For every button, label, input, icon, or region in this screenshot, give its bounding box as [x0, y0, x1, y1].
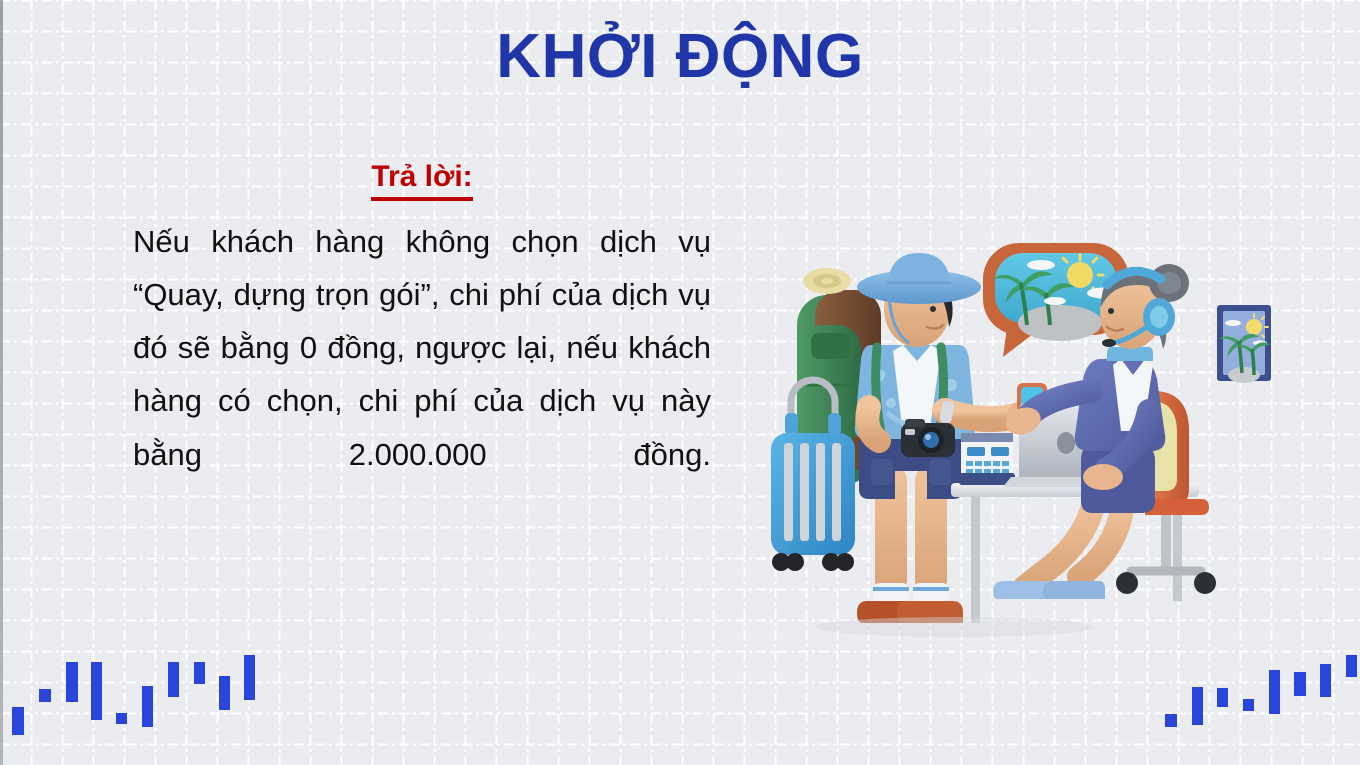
- decoration-bar: [91, 662, 102, 720]
- decoration-bar: [244, 655, 255, 700]
- left-edge-border: [0, 0, 3, 765]
- decoration-bar: [142, 686, 153, 727]
- decoration-bar: [66, 662, 77, 702]
- decoration-bar: [1294, 672, 1305, 696]
- answer-block: Trả lời: Nếu khách hàng không chọn dịch …: [133, 160, 711, 534]
- decoration-bar: [194, 662, 205, 684]
- candlestick-decoration-left: [0, 655, 260, 765]
- wall-picture-palm: [1217, 305, 1271, 383]
- decoration-bar: [1243, 699, 1254, 711]
- decoration-bar: [116, 713, 127, 724]
- decoration-bar: [1320, 664, 1331, 697]
- decoration-bar: [39, 689, 50, 702]
- decoration-bar: [12, 707, 23, 735]
- slide: KHỞI ĐỘNG Trả lời: Nếu khách hàng không …: [0, 0, 1360, 765]
- page-title: KHỞI ĐỘNG: [0, 24, 1360, 89]
- decoration-bar: [168, 662, 179, 697]
- decoration-bar: [1192, 687, 1203, 725]
- sleeping-roll-top: [803, 268, 851, 294]
- decoration-bar: [1217, 688, 1228, 707]
- decoration-bar: [1269, 670, 1280, 714]
- answer-heading-wrap: Trả lời:: [133, 160, 711, 201]
- answer-body-text: Nếu khách hàng không chọn dịch vụ “Quay,…: [133, 215, 711, 535]
- candlestick-decoration-right: [1160, 655, 1360, 765]
- decoration-bar: [1346, 655, 1357, 677]
- answer-heading: Trả lời:: [371, 160, 472, 201]
- desk-calendar: [959, 433, 1015, 485]
- decoration-bar: [219, 676, 230, 710]
- travel-agent-illustration: [755, 235, 1275, 665]
- decoration-bar: [1165, 714, 1176, 727]
